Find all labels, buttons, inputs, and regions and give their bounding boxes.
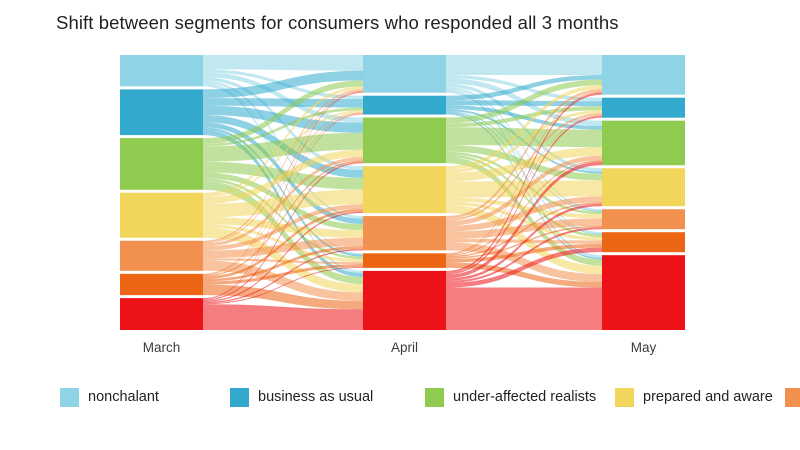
sankey-node-may-financially-fearful[interactable] xyxy=(602,255,685,330)
stage-label-march: March xyxy=(143,340,181,355)
stage-label-may: May xyxy=(631,340,657,355)
legend-swatch-icon xyxy=(615,388,634,407)
legend-item-going-it-alone[interactable]: going it alone xyxy=(785,388,800,407)
sankey-node-march-business-as-usual[interactable] xyxy=(120,89,203,135)
legend-item-label: nonchalant xyxy=(88,389,159,405)
legend-swatch-icon xyxy=(230,388,249,407)
legend-item-label: business as usual xyxy=(258,389,373,405)
sankey-link[interactable] xyxy=(446,127,602,147)
sankey-node-april-under-affected-realists[interactable] xyxy=(363,118,446,164)
legend-item-business-as-usual[interactable]: business as usual xyxy=(230,388,425,407)
sankey-node-may-prepared-and-aware[interactable] xyxy=(602,168,685,206)
sankey-node-may-going-it-alone[interactable] xyxy=(602,209,685,229)
sankey-node-march-financially-fearful[interactable] xyxy=(120,298,203,330)
legend-item-nonchalant[interactable]: nonchalant xyxy=(60,388,230,407)
legend-item-prepared-and-aware[interactable]: prepared and aware xyxy=(615,388,785,407)
sankey-link[interactable] xyxy=(446,287,602,330)
sankey-node-march-under-affected-realists[interactable] xyxy=(120,138,203,190)
sankey-node-may-under-affected-realists[interactable] xyxy=(602,121,685,166)
sankey-node-may-nonchalant[interactable] xyxy=(602,55,685,95)
sankey-node-april-doom-and-gloom[interactable] xyxy=(363,253,446,268)
sankey-node-march-doom-and-gloom[interactable] xyxy=(120,274,203,295)
stage-axis-labels: MarchAprilMay xyxy=(143,340,657,355)
legend-swatch-icon xyxy=(60,388,79,407)
sankey-node-april-going-it-alone[interactable] xyxy=(363,216,446,250)
legend-item-under-affected-realists[interactable]: under-affected realists xyxy=(425,388,615,407)
legend-item-label: under-affected realists xyxy=(453,389,596,405)
legend: nonchalantbusiness as usualunder-affecte… xyxy=(60,383,780,411)
sankey-node-march-nonchalant[interactable] xyxy=(120,55,203,86)
sankey-link[interactable] xyxy=(446,55,602,75)
sankey-node-march-going-it-alone[interactable] xyxy=(120,241,203,271)
sankey-node-march-prepared-and-aware[interactable] xyxy=(120,193,203,238)
sankey-node-may-doom-and-gloom[interactable] xyxy=(602,232,685,252)
sankey-node-april-prepared-and-aware[interactable] xyxy=(363,166,446,213)
sankey-node-april-nonchalant[interactable] xyxy=(363,55,446,93)
sankey-node-may-business-as-usual[interactable] xyxy=(602,98,685,118)
legend-swatch-icon xyxy=(785,388,800,407)
stage-label-april: April xyxy=(391,340,418,355)
legend-swatch-icon xyxy=(425,388,444,407)
sankey-node-april-financially-fearful[interactable] xyxy=(363,271,446,330)
sankey-node-april-business-as-usual[interactable] xyxy=(363,96,446,115)
sankey-link[interactable] xyxy=(203,55,363,71)
legend-item-label: prepared and aware xyxy=(643,389,773,405)
